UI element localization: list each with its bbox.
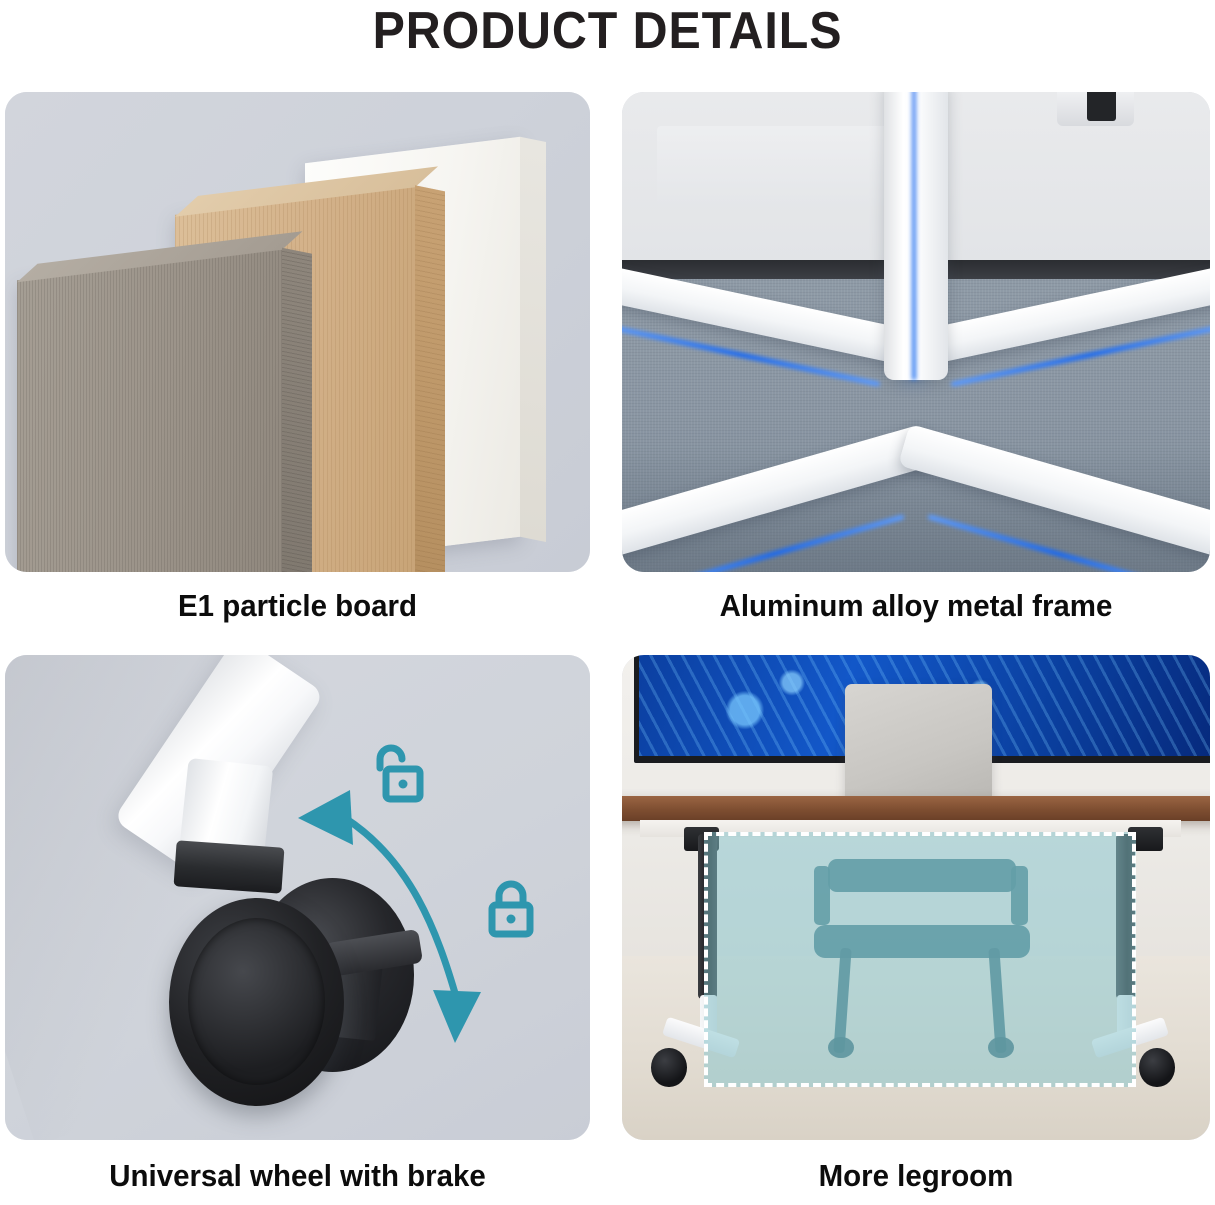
panel-universal-wheel (5, 655, 590, 1140)
desk-caster-right (1139, 1048, 1174, 1087)
caption-legroom: More legroom (637, 1158, 1196, 1194)
frame-center-post (884, 92, 949, 380)
panel-particle-board (5, 92, 590, 572)
white-board-edge (520, 137, 546, 542)
legroom-highlight-area (704, 832, 1135, 1087)
lock-icon (485, 878, 537, 938)
post-glow-line (912, 92, 916, 380)
unlock-icon (368, 742, 424, 804)
frame-clip-dark (1087, 92, 1116, 121)
desk-top-surface (622, 796, 1210, 821)
desk-caster-left (651, 1048, 686, 1087)
oak-board-edge (415, 185, 445, 572)
caption-universal-wheel: Universal wheel with brake (20, 1158, 576, 1194)
panel-legroom (622, 655, 1210, 1140)
caption-particle-board: E1 particle board (20, 588, 576, 624)
product-details-infographic: PRODUCT DETAILS E1 particle board (0, 0, 1215, 1205)
page-title: PRODUCT DETAILS (43, 2, 1173, 60)
panel-metal-frame (622, 92, 1210, 572)
grey-board-sample (17, 248, 282, 572)
caption-metal-frame: Aluminum alloy metal frame (637, 588, 1196, 624)
laptop (845, 684, 992, 805)
grey-board-edge (282, 248, 312, 572)
